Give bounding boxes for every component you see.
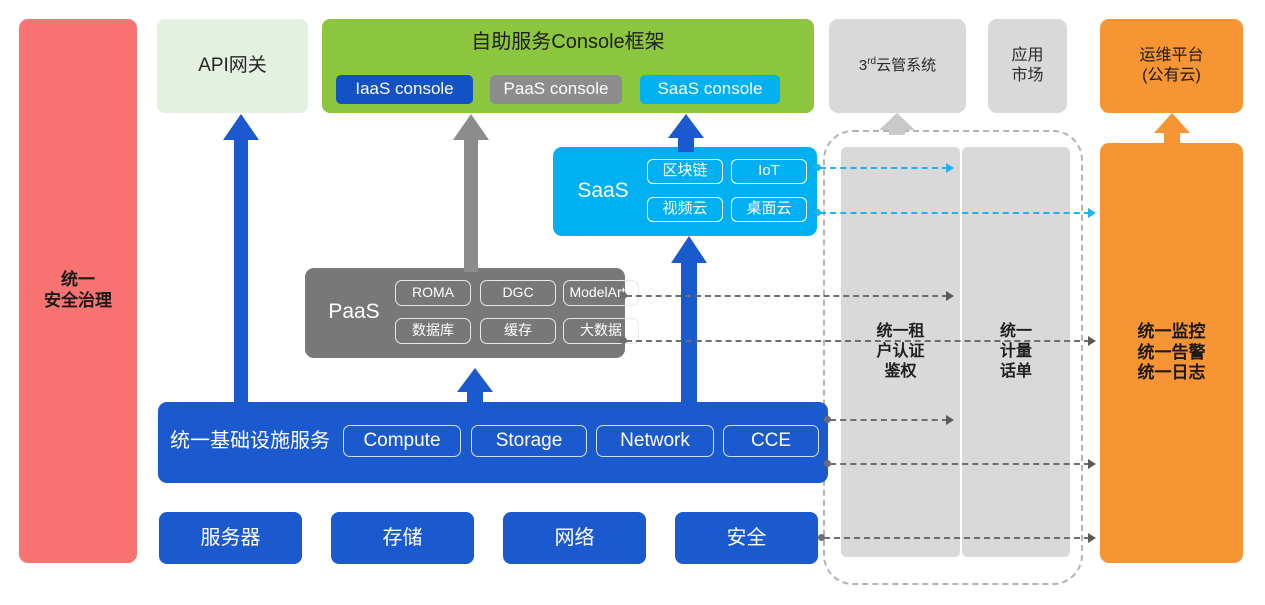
- arrow-saas-to-console: [666, 114, 706, 152]
- dashed-line-infra-to-auth: [830, 419, 948, 421]
- billing-column-line-2: 计量: [1000, 343, 1032, 360]
- auth-column-line-3: 鉴权: [884, 363, 916, 380]
- arrowhead-infra-to-auth: [946, 415, 954, 425]
- arrowhead-saas-to-auth: [946, 163, 954, 173]
- resource-box-network: 网络: [503, 512, 646, 564]
- api-gateway-label: API网关: [198, 54, 267, 77]
- unified-infrastructure-services-bar: 统一基础设施服务 Compute Storage Network CCE: [158, 402, 828, 483]
- billing-column-line-3: 话单: [1000, 363, 1032, 380]
- third-party-suffix: 云管系统: [876, 57, 936, 74]
- paas-layer-label: PaaS: [313, 299, 395, 325]
- arrowhead-paas-to-auth: [946, 291, 954, 301]
- app-market-box: 应用 市场: [988, 19, 1067, 113]
- saas-layer-box: SaaS 区块链 IoT 视频云 桌面云: [553, 147, 817, 236]
- arrowhead-resources-to-ops: [1088, 533, 1096, 543]
- saas-chip-iot[interactable]: IoT: [731, 159, 807, 184]
- dashed-line-saas-to-auth: [820, 167, 948, 169]
- paas-chip-modelarts[interactable]: ModelArts: [563, 280, 639, 306]
- dashed-line-resources-to-ops: [824, 537, 1090, 539]
- dashed-line-infra-to-ops: [830, 463, 1090, 465]
- governance-line-1: 统一: [61, 270, 95, 289]
- dashed-line-paas-to-auth: [626, 295, 948, 297]
- paas-chip-cache[interactable]: 缓存: [480, 318, 556, 344]
- ops-stack-line-3: 统一日志: [1138, 363, 1206, 382]
- saas-console-chip[interactable]: SaaS console: [640, 75, 780, 104]
- governance-line-2: 安全治理: [44, 291, 112, 310]
- unified-tenant-auth-column: 统一租 户认证 鉴权: [841, 147, 960, 557]
- api-gateway-box: API网关: [157, 19, 308, 113]
- iaas-console-chip[interactable]: IaaS console: [336, 75, 473, 104]
- infra-chip-storage[interactable]: Storage: [471, 425, 587, 457]
- ops-platform-line-2: (公有云): [1142, 67, 1201, 84]
- paas-console-chip[interactable]: PaaS console: [490, 75, 622, 104]
- resource-box-security: 安全: [675, 512, 818, 564]
- arrow-to-third-party-cloud: [877, 113, 917, 135]
- paas-chip-dgc[interactable]: DGC: [480, 280, 556, 306]
- paas-layer-box: PaaS ROMA DGC ModelArts 数据库 缓存 大数据: [305, 268, 625, 358]
- dashed-line-paas-to-ops: [626, 340, 1090, 342]
- arrowhead-infra-to-ops: [1088, 459, 1096, 469]
- unified-security-governance-panel: 统一 安全治理: [19, 19, 137, 563]
- paas-chip-database[interactable]: 数据库: [395, 318, 471, 344]
- ops-stack-line-1: 统一监控: [1138, 322, 1206, 341]
- infra-chip-network[interactable]: Network: [596, 425, 714, 457]
- dashed-line-saas-to-ops: [820, 212, 1090, 214]
- saas-chip-video-cloud[interactable]: 视频云: [647, 197, 723, 222]
- architecture-diagram: 统一 安全治理 API网关 自助服务Console框架 IaaS console…: [0, 0, 1265, 605]
- infra-chip-cce[interactable]: CCE: [723, 425, 819, 457]
- arrow-paas-to-console: [451, 114, 491, 272]
- app-market-line-1: 应用: [1011, 47, 1043, 64]
- arrowhead-saas-to-ops: [1088, 208, 1096, 218]
- resource-box-storage: 存储: [331, 512, 474, 564]
- arrow-infra-to-saas: [669, 236, 709, 406]
- billing-column-line-1: 统一: [1000, 323, 1032, 340]
- auth-column-line-1: 统一租: [876, 323, 924, 340]
- ops-platform-line-1: 运维平台: [1139, 47, 1203, 64]
- infra-chip-compute[interactable]: Compute: [343, 425, 461, 457]
- unified-metering-billing-column: 统一 计量 话单: [962, 147, 1070, 557]
- arrow-observability-to-ops-platform: [1152, 113, 1192, 145]
- arrow-infra-to-paas: [455, 368, 495, 406]
- arrowhead-paas-to-ops: [1088, 336, 1096, 346]
- unified-observability-panel: 统一监控 统一告警 统一日志: [1100, 143, 1243, 563]
- saas-chip-desktop-cloud[interactable]: 桌面云: [731, 197, 807, 222]
- paas-chip-roma[interactable]: ROMA: [395, 280, 471, 306]
- console-framework-title: 自助服务Console框架: [322, 30, 814, 54]
- third-party-cloud-management-box: 3rd云管系统: [829, 19, 966, 113]
- saas-chip-blockchain[interactable]: 区块链: [647, 159, 723, 184]
- ops-stack-line-2: 统一告警: [1138, 343, 1206, 362]
- arrow-infra-to-api-gateway: [221, 114, 261, 406]
- app-market-line-2: 市场: [1011, 67, 1043, 84]
- auth-column-line-2: 户认证: [876, 343, 924, 360]
- self-service-console-framework: 自助服务Console框架 IaaS console PaaS console …: [322, 19, 814, 113]
- ops-platform-box: 运维平台 (公有云): [1100, 19, 1243, 113]
- saas-layer-label: SaaS: [563, 178, 643, 204]
- resource-box-server: 服务器: [159, 512, 302, 564]
- third-party-ordinal-suffix: rd: [867, 56, 876, 67]
- infrastructure-services-label: 统一基础设施服务: [170, 429, 330, 453]
- third-party-prefix: 3: [859, 57, 867, 74]
